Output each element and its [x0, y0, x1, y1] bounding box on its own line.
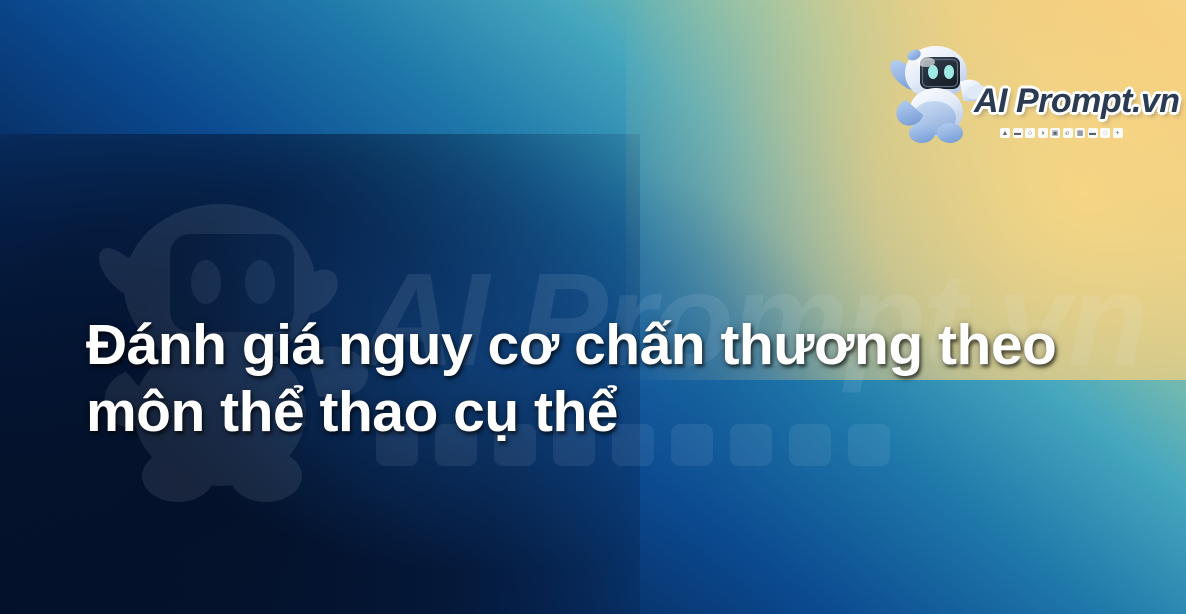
person-icon: ▲ [1000, 128, 1010, 138]
chart-icon: ◌ [1100, 128, 1110, 138]
brand-icon-strip: ▲ ▬ ○ ◑ ▣ ℮ ▦ ▬ ◌ + [1000, 128, 1123, 138]
slider-icon: ▬ [1088, 128, 1098, 138]
toolbar-icon: ▬ [1013, 128, 1023, 138]
promo-banner: AI Prompt.vn Đánh giá nguy cơ chấn thươn… [0, 0, 1186, 614]
image-icon: ▣ [1050, 128, 1060, 138]
document-icon: ℮ [1063, 128, 1073, 138]
brand-logo[interactable]: AI Prompt.vn ▲ ▬ ○ ◑ ▣ ℮ ▦ ▬ ◌ + [884, 36, 1134, 156]
plus-icon: + [1113, 128, 1123, 138]
banner-headline: Đánh giá nguy cơ chấn thương theo môn th… [86, 312, 1126, 445]
calendar-icon: ▦ [1075, 128, 1085, 138]
clock-icon: ○ [1025, 128, 1035, 138]
brand-wordmark: AI Prompt.vn [974, 84, 1180, 118]
chat-icon: ◑ [1038, 128, 1048, 138]
